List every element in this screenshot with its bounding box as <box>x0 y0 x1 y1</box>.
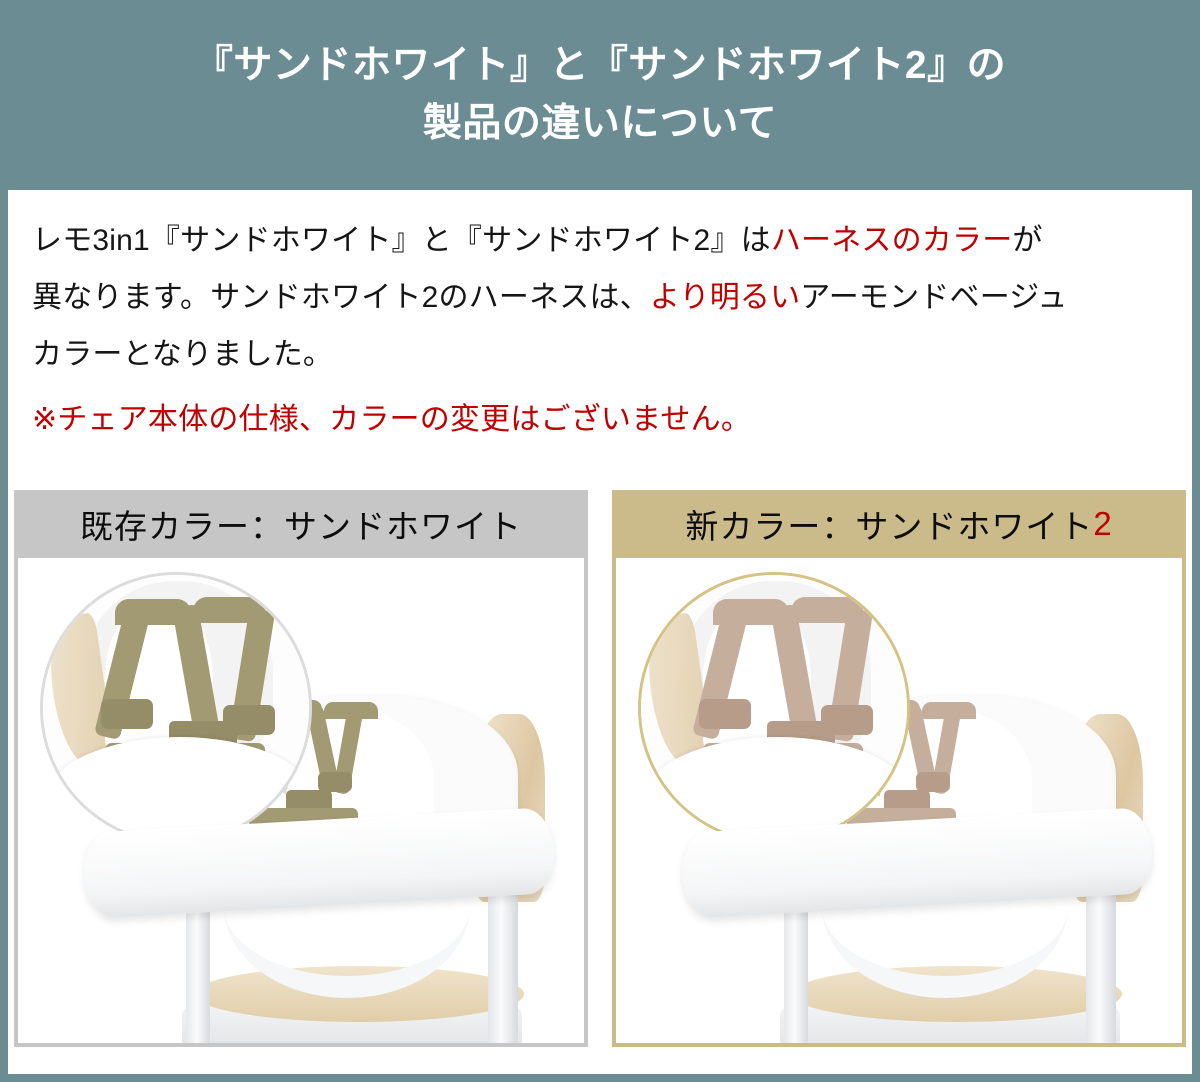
description-line-1-text-c: が <box>1012 224 1042 257</box>
page-header: 『サンドホワイト』と『サンドホワイト2』の 製品の違いについて <box>0 0 1200 190</box>
description-line-1-highlight: ハーネスのカラー <box>771 224 1013 257</box>
description-line-1-text-a: レモ3in1『サンドホワイト』と『サンドホワイト2』は <box>32 224 771 257</box>
product-photo-old <box>18 558 584 1043</box>
page-title-line-1: 『サンドホワイト』と『サンドホワイト2』の <box>194 37 1006 95</box>
harness-buckle-right <box>318 772 352 792</box>
footer-strip <box>0 1074 1200 1082</box>
page-title-line-2: 製品の違いについて <box>423 95 777 153</box>
harness-buckle-right <box>916 772 950 792</box>
description-line-2-highlight: より明るい <box>650 281 800 314</box>
zoom-buckle-left <box>699 699 751 729</box>
panel-new-color-header: 新カラー：サンドホワイト2 <box>612 490 1186 558</box>
panel-old-color-photo <box>14 558 588 1047</box>
panel-old-color-label: 既存カラー：サンドホワイト <box>80 500 522 548</box>
description-line-2-text-c: アーモンドベージュ <box>800 281 1067 314</box>
description-line-2: 異なります。サンドホワイト2のハーネスは、より明るいアーモンドベージュ <box>32 269 1172 326</box>
right-edge-strip <box>1192 190 1200 1082</box>
panel-new-color: 新カラー：サンドホワイト2 <box>612 490 1186 1047</box>
panel-old-color: 既存カラー：サンドホワイト <box>14 490 588 1047</box>
magnifier-callout-old <box>40 572 312 844</box>
magnifier-content-old <box>43 575 309 841</box>
zoom-buckle-left <box>101 699 153 729</box>
panel-new-color-label-suffix: 2 <box>1093 505 1112 543</box>
magnifier-callout-new <box>638 572 910 844</box>
product-photo-new <box>616 558 1182 1043</box>
description-line-1: レモ3in1『サンドホワイト』と『サンドホワイト2』はハーネスのカラーが <box>32 212 1172 269</box>
description-note: ※チェア本体の仕様、カラーの変更はございません。 <box>32 391 1172 448</box>
content-card: レモ3in1『サンドホワイト』と『サンドホワイト2』はハーネスのカラーが 異なり… <box>8 190 1192 1074</box>
description-line-3: カラーとなりました。 <box>32 326 1172 383</box>
comparison-infographic: 『サンドホワイト』と『サンドホワイト2』の 製品の違いについて レモ3in1『サ… <box>0 0 1200 1082</box>
comparison-panels: 既存カラー：サンドホワイト <box>14 490 1186 1047</box>
description-line-2-text-a: 異なります。サンドホワイト2のハーネスは、 <box>32 281 650 314</box>
left-edge-strip <box>0 190 8 1082</box>
panel-new-color-photo <box>612 558 1186 1047</box>
panel-old-color-header: 既存カラー：サンドホワイト <box>14 490 588 558</box>
description-block: レモ3in1『サンドホワイト』と『サンドホワイト2』はハーネスのカラーが 異なり… <box>32 212 1172 448</box>
panel-new-color-label: 新カラー：サンドホワイト <box>685 500 1093 548</box>
magnifier-content-new <box>641 575 907 841</box>
